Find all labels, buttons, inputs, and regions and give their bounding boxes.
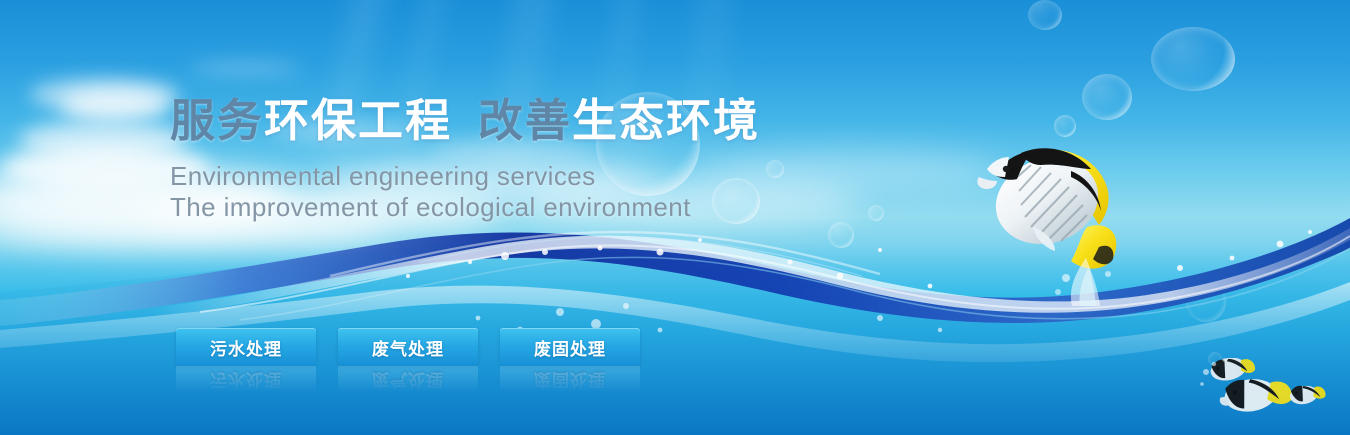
subtitle-line-2: The improvement of ecological environmen… — [170, 194, 691, 220]
service-button-row: 污水处理 污水处理 废气处理 废气处理 废固处理 废固处理 — [176, 328, 640, 366]
service-button-waste-gas[interactable]: 废气处理 废气处理 — [338, 328, 478, 366]
service-button-wastewater[interactable]: 污水处理 污水处理 — [176, 328, 316, 366]
headline-part-b: 环保工程 — [264, 95, 452, 146]
soap-bubble-icon — [828, 222, 854, 248]
soap-bubble-icon — [1208, 352, 1222, 366]
headline-part-a: 服务 — [170, 95, 264, 146]
button-text-reflection: 废固处理 — [500, 368, 640, 394]
button-text-reflection: 污水处理 — [176, 368, 316, 394]
service-button-solid-waste[interactable]: 废固处理 废固处理 — [500, 328, 640, 366]
soap-bubble-icon — [1186, 282, 1226, 322]
service-button-label: 废固处理 — [534, 335, 606, 360]
soap-bubble-icon — [1151, 27, 1235, 91]
soap-bubble-icon — [868, 205, 884, 221]
soap-bubble-icon — [1226, 366, 1236, 376]
subtitle-line-1: Environmental engineering services — [170, 163, 596, 189]
service-button-label: 废气处理 — [372, 335, 444, 360]
button-text-reflection: 废气处理 — [338, 368, 478, 394]
soap-bubble-icon — [1082, 74, 1132, 120]
headline-part-c: 改善 — [478, 95, 572, 146]
page-title: 服务环保工程改善生态环境 — [170, 98, 760, 143]
button-panel-reflection — [176, 366, 316, 392]
soap-bubble-icon — [712, 178, 760, 224]
button-panel-reflection — [500, 366, 640, 392]
splash-icon — [1042, 248, 1132, 308]
soap-bubble-icon — [1054, 115, 1076, 137]
headline-part-d: 生态环境 — [572, 95, 760, 146]
service-button-label: 污水处理 — [210, 335, 282, 360]
butterflyfish-school-icon — [1200, 358, 1330, 428]
butterflyfish-icon — [975, 135, 1140, 285]
soap-bubble-icon — [766, 160, 784, 178]
eco-hero-banner: 服务环保工程改善生态环境 Environmental engineering s… — [0, 0, 1350, 435]
button-panel-reflection — [338, 366, 478, 392]
soap-bubble-icon — [1028, 0, 1062, 30]
